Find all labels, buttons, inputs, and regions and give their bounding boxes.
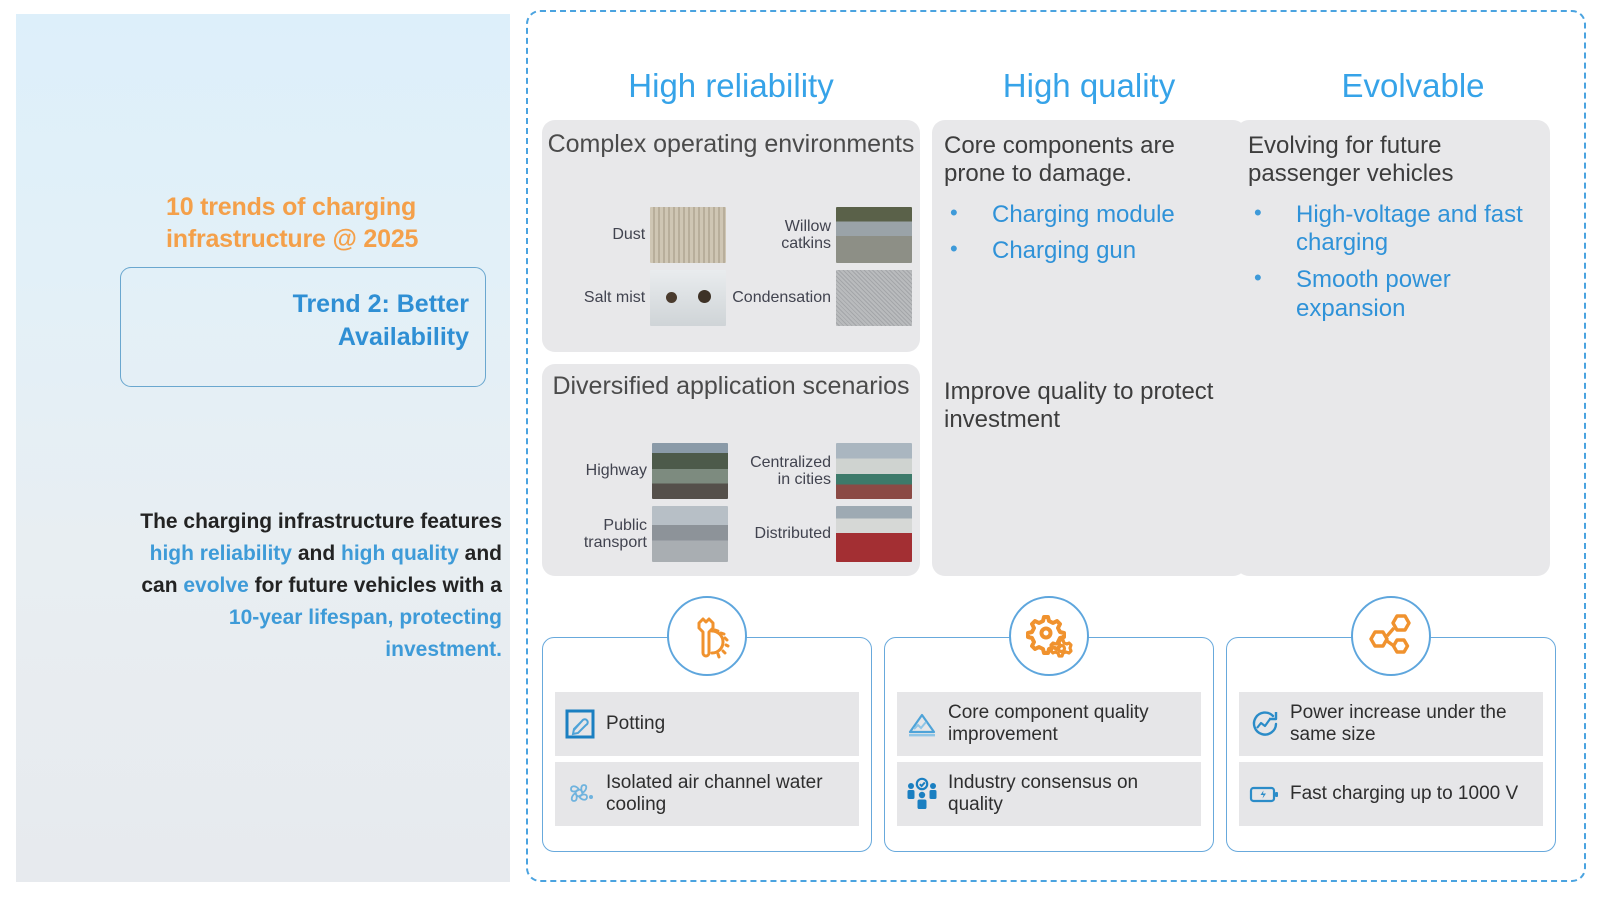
bullet-item: High-voltage and fast charging bbox=[1248, 201, 1540, 259]
summary-fragment-1: high reliability bbox=[150, 542, 292, 565]
highway-thumbnail bbox=[652, 443, 728, 499]
solution-card-quality[interactable]: Core component quality improvement Indus… bbox=[884, 637, 1214, 852]
column-heading-reliability: High reliability bbox=[540, 69, 922, 102]
summary-paragraph: The charging infrastructure features hig… bbox=[112, 506, 502, 666]
card-evolvable: Evolving for future passenger vehicles H… bbox=[1236, 120, 1550, 576]
thumb-label: Willow catkins bbox=[732, 218, 831, 253]
thumb-item: Highway bbox=[550, 442, 728, 500]
card-high-quality: Core components are prone to damage. Cha… bbox=[932, 120, 1246, 576]
thumb-label: Condensation bbox=[732, 289, 831, 306]
solution-card-reliability[interactable]: Potting Isolated air cha bbox=[542, 637, 872, 852]
willow-catkins-thumbnail bbox=[836, 207, 912, 263]
feature-label: Fast charging up to 1000 V bbox=[1290, 783, 1518, 805]
left-summary-panel: 10 trends of charging infrastructure @ 2… bbox=[16, 14, 510, 882]
card-complex-operating-environments: Complex operating environments Dust Will… bbox=[542, 120, 920, 352]
summary-fragment-0: The charging infrastructure features bbox=[140, 510, 502, 533]
quality-chart-icon bbox=[905, 707, 939, 741]
salt-mist-thumbnail bbox=[650, 270, 726, 326]
public-transport-thumbnail bbox=[652, 506, 728, 562]
summary-fragment-2: and bbox=[292, 542, 341, 565]
trend-callout-box: Trend 2: Better Availability bbox=[120, 267, 486, 387]
column-heading-quality: High quality bbox=[930, 69, 1248, 102]
summary-fragment-5: evolve bbox=[183, 574, 248, 597]
feature-row[interactable]: Isolated air channel water cooling bbox=[555, 762, 859, 826]
thumb-item: Distributed bbox=[734, 505, 912, 563]
gears-icon bbox=[1009, 596, 1089, 676]
card-title: Diversified application scenarios bbox=[542, 364, 920, 402]
summary-fragment-6: for future vehicles with a bbox=[249, 574, 502, 597]
centralized-cities-thumbnail bbox=[836, 443, 912, 499]
bullet-item: Charging gun bbox=[944, 237, 1236, 266]
feature-row[interactable]: Fast charging up to 1000 V bbox=[1239, 762, 1543, 826]
thumb-item: Dust bbox=[550, 206, 726, 264]
bullet-item: Smooth power expansion bbox=[1248, 266, 1540, 324]
deck-title: 10 trends of charging infrastructure @ 2… bbox=[166, 192, 486, 255]
feature-label: Core component quality improvement bbox=[948, 702, 1193, 745]
fan-cooling-icon bbox=[563, 777, 597, 811]
card-lead-text: Core components are prone to damage. bbox=[932, 120, 1246, 189]
thumb-item: Centralized in cities bbox=[734, 442, 912, 500]
wrench-gear-icon bbox=[667, 596, 747, 676]
thumb-label: Salt mist bbox=[550, 289, 645, 306]
thumb-label: Dust bbox=[550, 226, 645, 243]
feature-row[interactable]: Core component quality improvement bbox=[897, 692, 1201, 756]
quality-bullet-list: Charging module Charging gun bbox=[932, 201, 1246, 267]
thumb-item: Salt mist bbox=[550, 269, 726, 327]
card-title: Complex operating environments bbox=[542, 120, 920, 160]
feature-label: Potting bbox=[606, 713, 665, 735]
people-consensus-icon bbox=[905, 777, 939, 811]
condensation-thumbnail bbox=[836, 270, 912, 326]
power-trend-icon bbox=[1247, 707, 1281, 741]
solution-card-evolvable[interactable]: Power increase under the same size Fast … bbox=[1226, 637, 1556, 852]
molecule-hexagon-icon bbox=[1351, 596, 1431, 676]
thumb-label: Highway bbox=[550, 462, 647, 479]
feature-row[interactable]: Potting bbox=[555, 692, 859, 756]
dust-thumbnail bbox=[650, 207, 726, 263]
feature-row[interactable]: Power increase under the same size bbox=[1239, 692, 1543, 756]
potting-icon bbox=[563, 707, 597, 741]
feature-label: Isolated air channel water cooling bbox=[606, 772, 851, 815]
battery-bolt-icon bbox=[1247, 777, 1281, 811]
evolvable-bullet-list: High-voltage and fast charging Smooth po… bbox=[1236, 201, 1550, 324]
environment-thumbnail-grid: Dust Willow catkins Salt mist Condensati… bbox=[550, 206, 912, 327]
summary-fragment-3: high quality bbox=[341, 542, 459, 565]
slide-root: 10 trends of charging infrastructure @ 2… bbox=[0, 0, 1600, 900]
card-diversified-application-scenarios: Diversified application scenarios Highwa… bbox=[542, 364, 920, 576]
card-lead-text: Evolving for future passenger vehicles bbox=[1236, 120, 1550, 189]
trend-label: Trend 2: Better Availability bbox=[169, 288, 469, 353]
thumb-item: Condensation bbox=[732, 269, 912, 327]
thumb-item: Public transport bbox=[550, 505, 728, 563]
summary-fragment-7: 10-year lifespan, protecting investment. bbox=[229, 606, 502, 661]
thumb-item: Willow catkins bbox=[732, 206, 912, 264]
feature-label: Power increase under the same size bbox=[1290, 702, 1535, 745]
card-footer-text: Improve quality to protect investment bbox=[932, 378, 1246, 435]
bullet-item: Charging module bbox=[944, 201, 1236, 230]
distributed-thumbnail bbox=[836, 506, 912, 562]
thumb-label: Distributed bbox=[734, 525, 831, 542]
thumb-label: Centralized in cities bbox=[734, 454, 831, 489]
feature-row[interactable]: Industry consensus on quality bbox=[897, 762, 1201, 826]
scenario-thumbnail-grid: Highway Centralized in cities Public tra… bbox=[550, 442, 912, 563]
feature-label: Industry consensus on quality bbox=[948, 772, 1193, 815]
content-panel: High reliability High quality Evolvable … bbox=[526, 10, 1586, 882]
thumb-label: Public transport bbox=[550, 517, 647, 552]
column-heading-evolvable: Evolvable bbox=[1254, 69, 1572, 102]
